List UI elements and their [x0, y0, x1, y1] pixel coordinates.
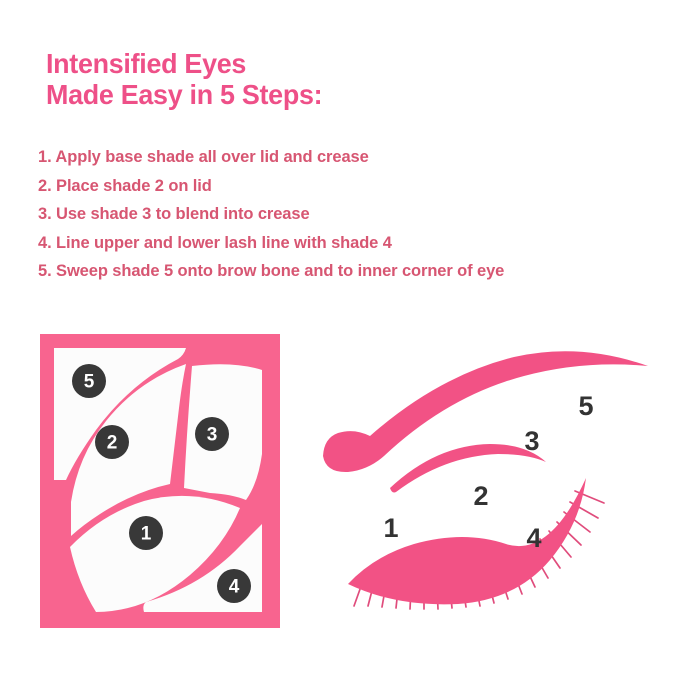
step-item-5: 5. Sweep shade 5 onto brow bone and to i… [38, 257, 639, 286]
palette-badge-3: 3 [195, 417, 229, 451]
crease-line [390, 444, 546, 493]
step-item-3: 3. Use shade 3 to blend into crease [38, 200, 639, 229]
palette-badge-5: 5 [72, 364, 106, 398]
step-item-1: 1. Apply base shade all over lid and cre… [38, 143, 639, 172]
palette-svg: 5 2 3 1 4 [34, 328, 286, 634]
badge-label-3: 3 [207, 425, 218, 446]
badge-label-5: 5 [84, 372, 95, 393]
badge-label-4: 4 [229, 577, 240, 598]
steps-list: 1. Apply base shade all over lid and cre… [38, 143, 658, 286]
eye-number-1: 1 [383, 513, 398, 543]
eyeshadow-palette-diagram: 5 2 3 1 4 [34, 328, 286, 634]
eye-number-3: 3 [524, 426, 539, 456]
badge-label-2: 2 [107, 433, 118, 454]
eye-number-4: 4 [526, 523, 541, 553]
eye-illustration: 5 3 2 1 4 [318, 338, 668, 628]
eye-number-2: 2 [473, 481, 488, 511]
eye-number-5: 5 [578, 391, 593, 421]
page-title: Intensified Eyes Made Easy in 5 Steps: [46, 48, 646, 110]
page-title-line-1: Intensified Eyes [46, 48, 622, 79]
badge-label-1: 1 [141, 524, 152, 545]
palette-badge-2: 2 [95, 425, 129, 459]
poster-canvas: Intensified Eyes Made Easy in 5 Steps: 1… [0, 0, 679, 679]
step-item-4: 4. Line upper and lower lash line with s… [38, 229, 639, 258]
step-item-2: 2. Place shade 2 on lid [38, 172, 639, 201]
palette-badge-4: 4 [217, 569, 251, 603]
eye-svg: 5 3 2 1 4 [318, 338, 668, 628]
page-title-line-2: Made Easy in 5 Steps: [46, 79, 622, 110]
palette-badge-1: 1 [129, 516, 163, 550]
